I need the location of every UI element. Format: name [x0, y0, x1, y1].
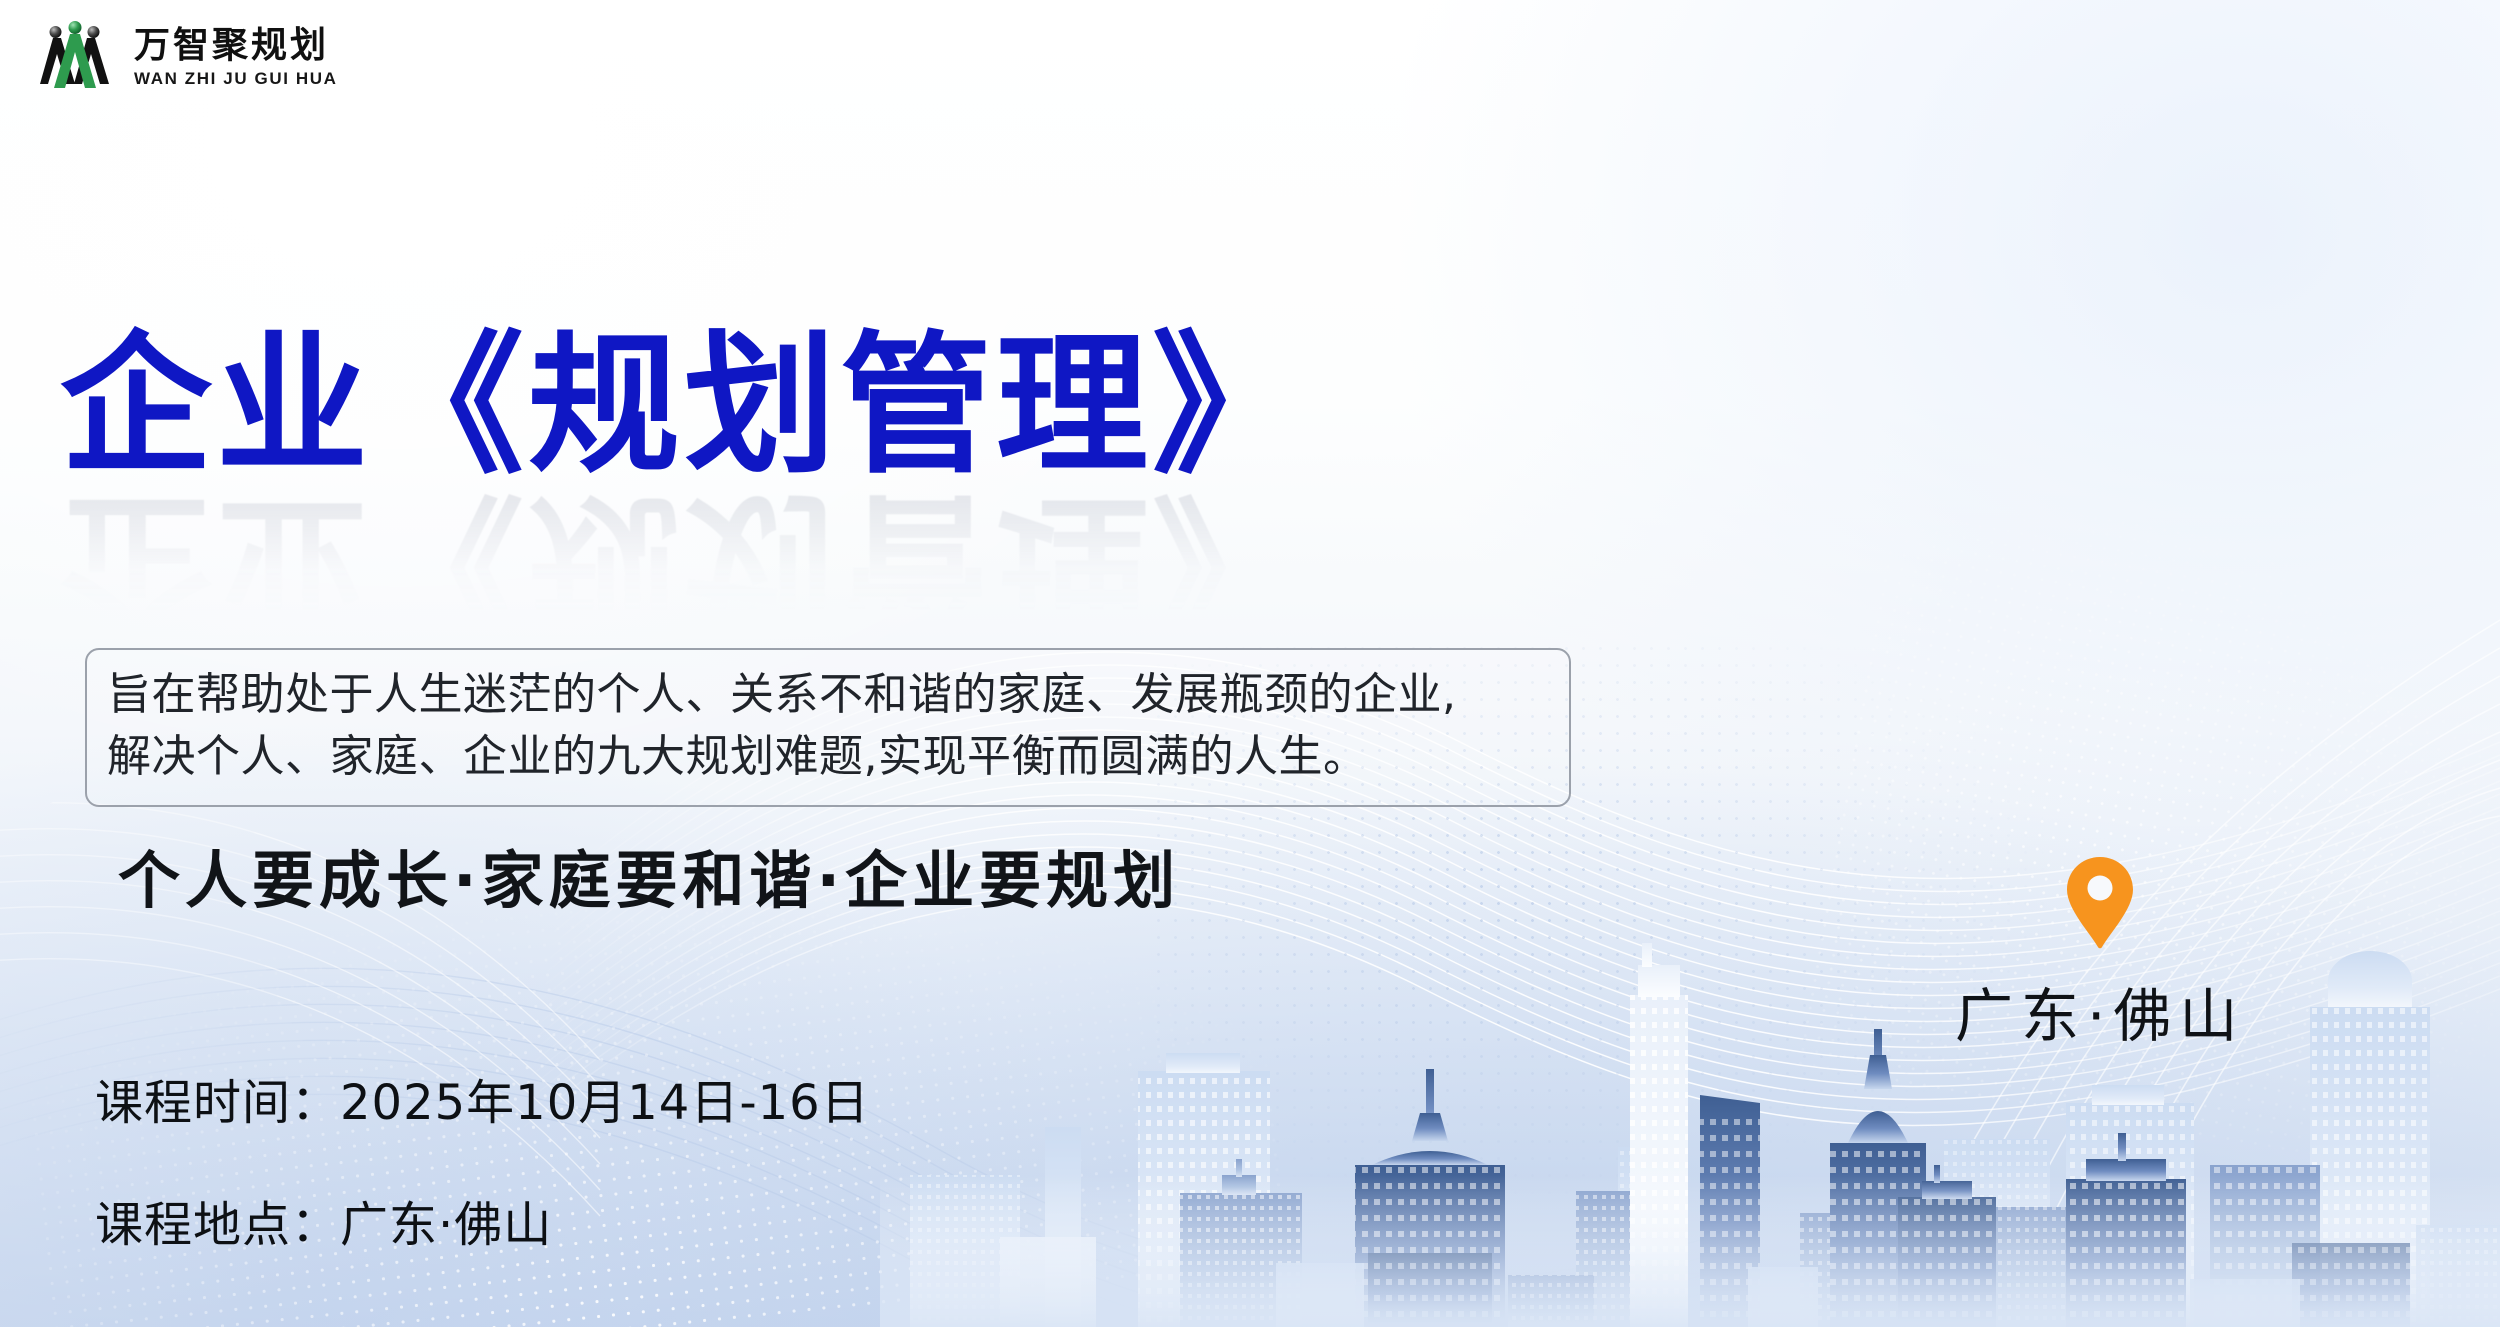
- brand-name-cn: 万智聚规划: [134, 27, 338, 63]
- description-line-2: 解决个人、家庭、企业的九大规划难题,实现平衡而圆满的人生。: [107, 726, 1549, 788]
- three-people-m-logo-icon: [38, 18, 116, 96]
- course-time-row: 课程时间：2025年10月14日-16日: [95, 1063, 870, 1133]
- course-info-block: 课程时间：2025年10月14日-16日 课程地点：广东·佛山: [95, 1063, 870, 1255]
- hero-slogan: 个人要成长·家庭要和谐·企业要规划: [118, 830, 1180, 920]
- location-block: 广东·佛山: [1955, 855, 2245, 1053]
- hero-title-block: 企业《规划管理》 企业《规划管理》: [60, 330, 1308, 638]
- course-place-row: 课程地点：广东·佛山: [95, 1185, 870, 1255]
- brand-name-block: 万智聚规划 WAN ZHI JU GUI HUA: [134, 27, 338, 87]
- map-pin-icon: [2062, 855, 2138, 951]
- dot-mesh-pattern-right-icon: [1792, 462, 2500, 1198]
- brand-name-en: WAN ZHI JU GUI HUA: [134, 70, 338, 87]
- description-box: 旨在帮助处于人生迷茫的个人、关系不和谐的家庭、发展瓶颈的企业, 解决个人、家庭、…: [85, 648, 1571, 807]
- background-tint-top-right: [1400, 0, 2500, 950]
- page-title-reflection: 企业《规划管理》: [60, 486, 1308, 638]
- city-skyline-silhouette-icon: [880, 907, 2500, 1327]
- page-title: 企业《规划管理》: [60, 330, 1308, 482]
- brand-logo: 万智聚规划 WAN ZHI JU GUI HUA: [38, 18, 338, 96]
- description-line-1: 旨在帮助处于人生迷茫的个人、关系不和谐的家庭、发展瓶颈的企业,: [107, 664, 1549, 726]
- poster-canvas: 万智聚规划 WAN ZHI JU GUI HUA 企业《规划管理》 企业《规划管…: [0, 0, 2500, 1327]
- location-city-label: 广东·佛山: [1955, 969, 2245, 1053]
